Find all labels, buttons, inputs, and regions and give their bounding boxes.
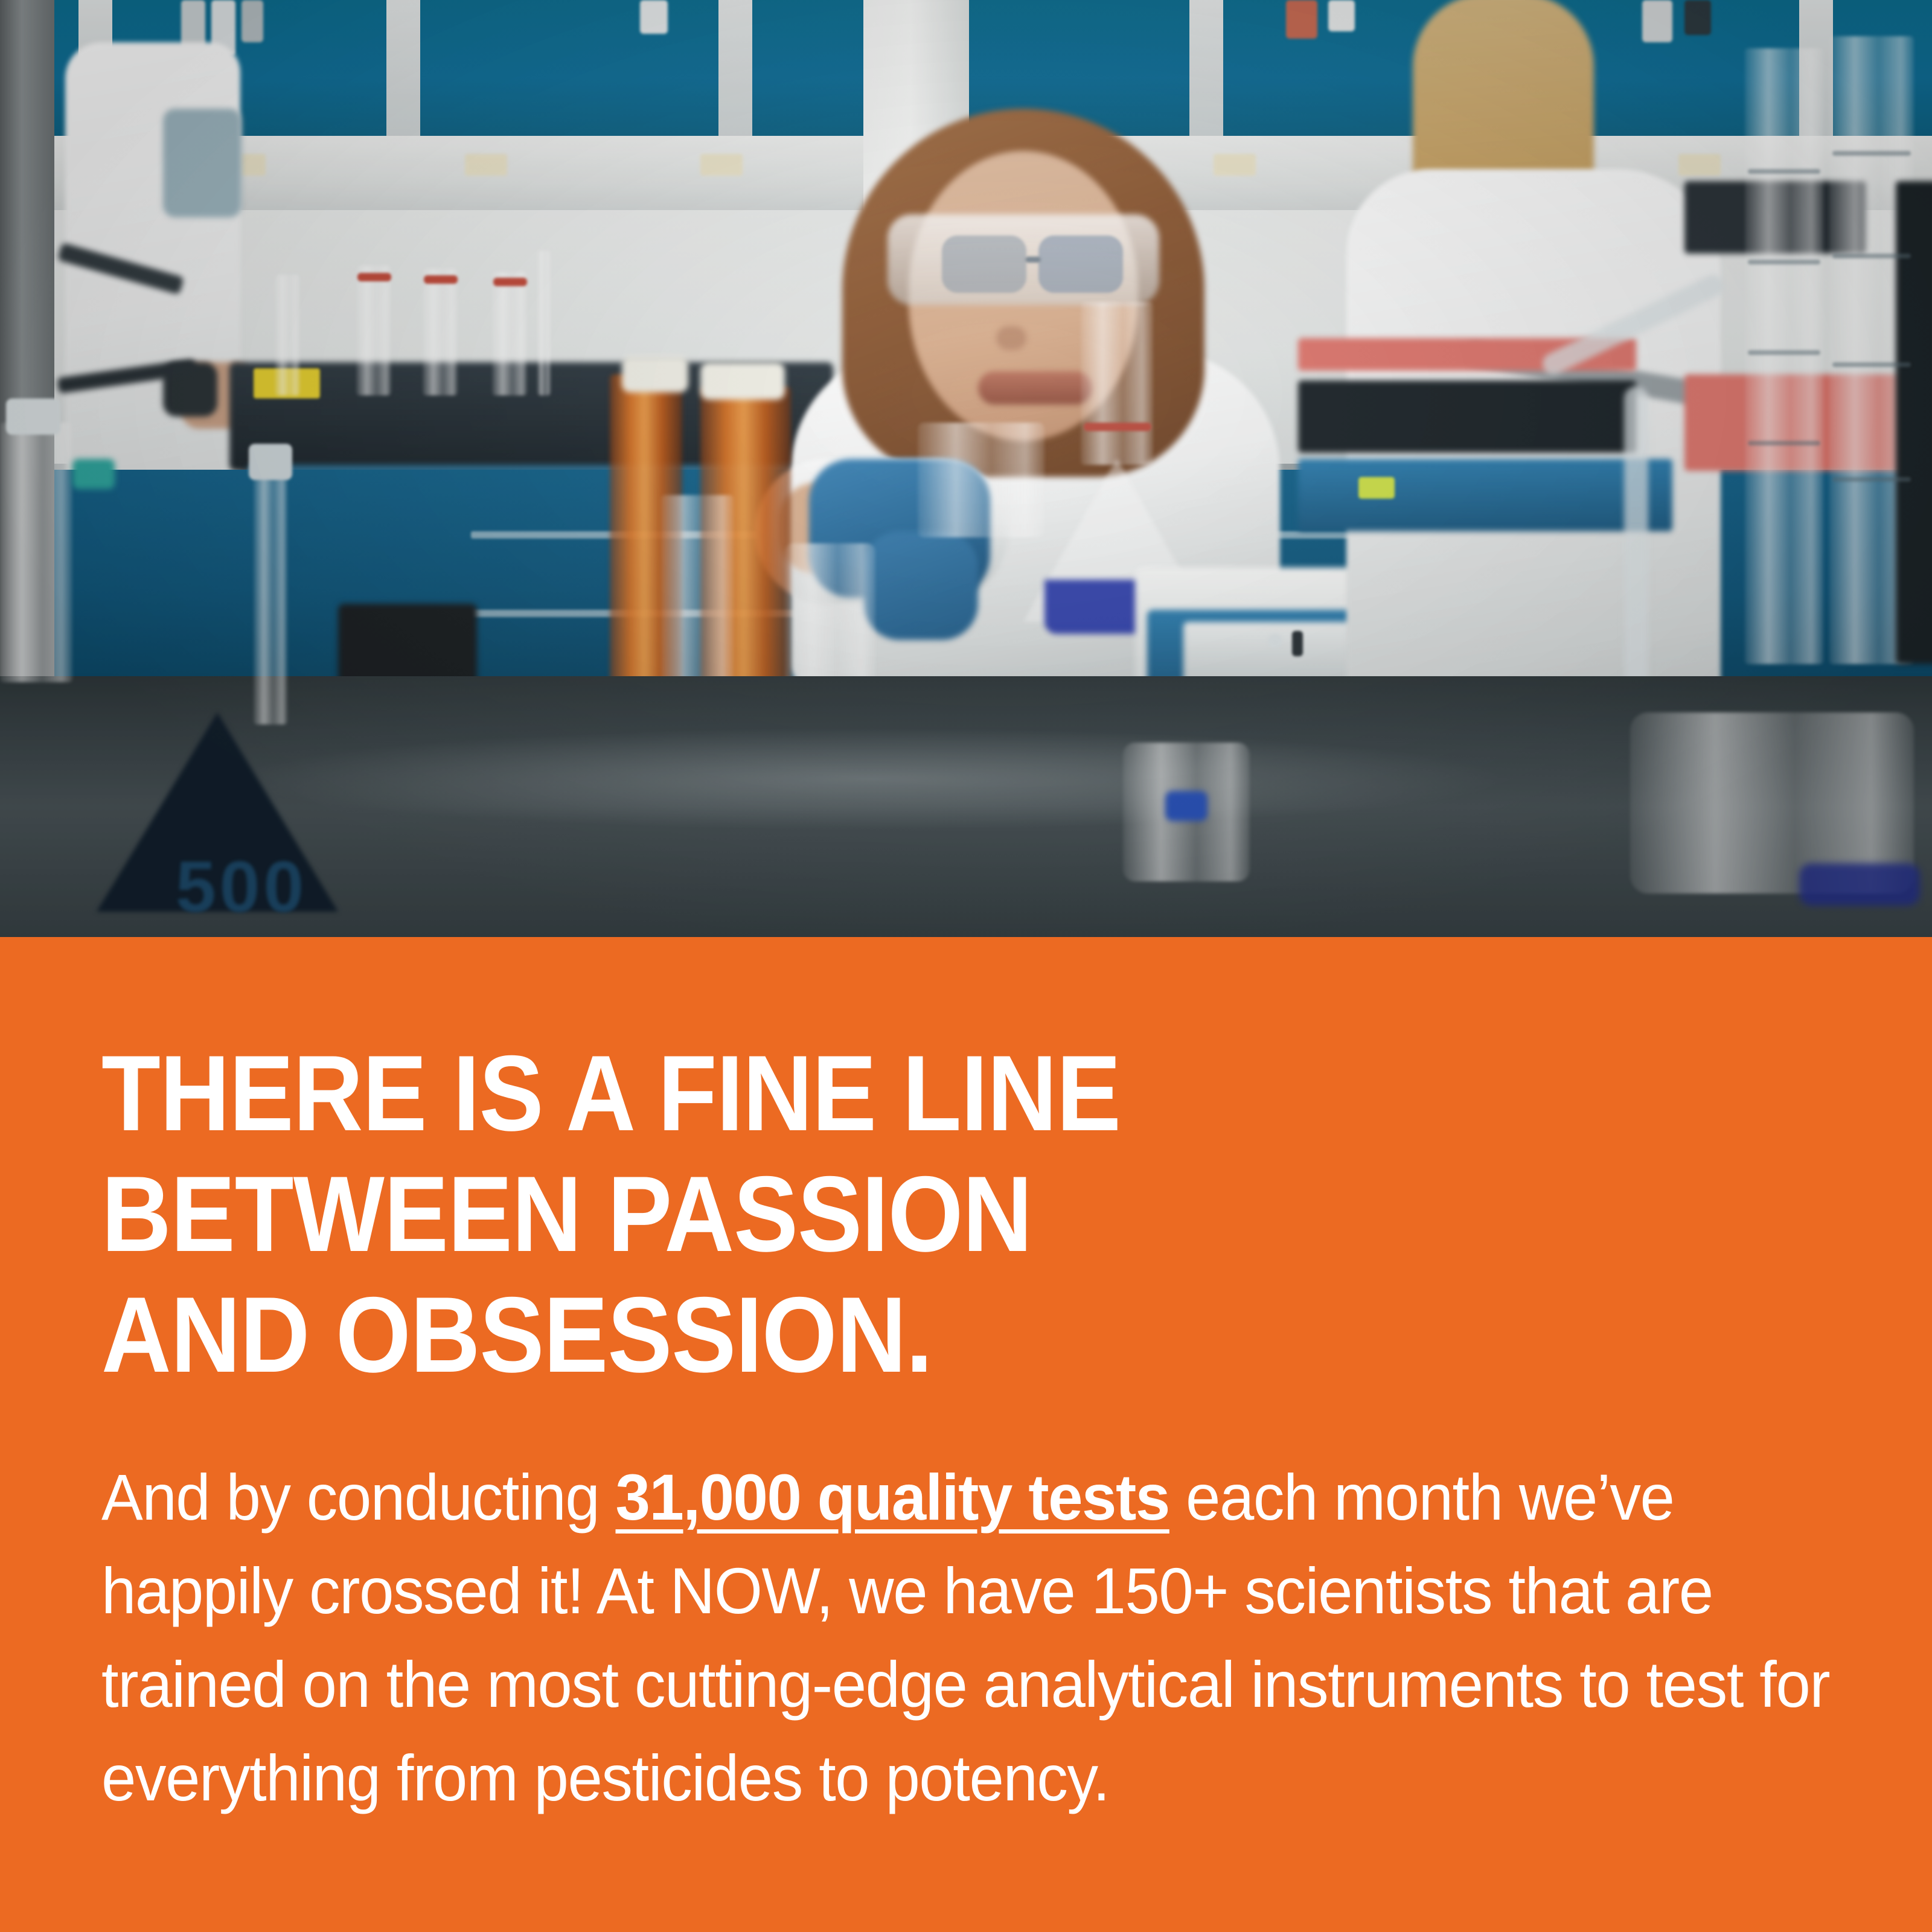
quality-tests-highlight: 31,000 quality tests (616, 1460, 1169, 1534)
body-paragraph: And by conducting 31,000 quality tests e… (101, 1450, 1837, 1825)
lab-photo: 500 (0, 0, 1932, 937)
orange-text-panel: THERE IS A FINE LINE BETWEEN PASSION AND… (0, 937, 1932, 1932)
flask-500-label: 500 (145, 845, 338, 929)
marketing-graphic: 500 THERE IS A FINE LINE BETWEEN PASSION… (0, 0, 1932, 1932)
erlenmeyer-neck (1081, 302, 1153, 465)
graduated-cylinder-1 (1745, 48, 1823, 664)
body-part-1: And by conducting (101, 1460, 616, 1534)
page-title: THERE IS A FINE LINE BETWEEN PASSION AND… (101, 1033, 1677, 1395)
